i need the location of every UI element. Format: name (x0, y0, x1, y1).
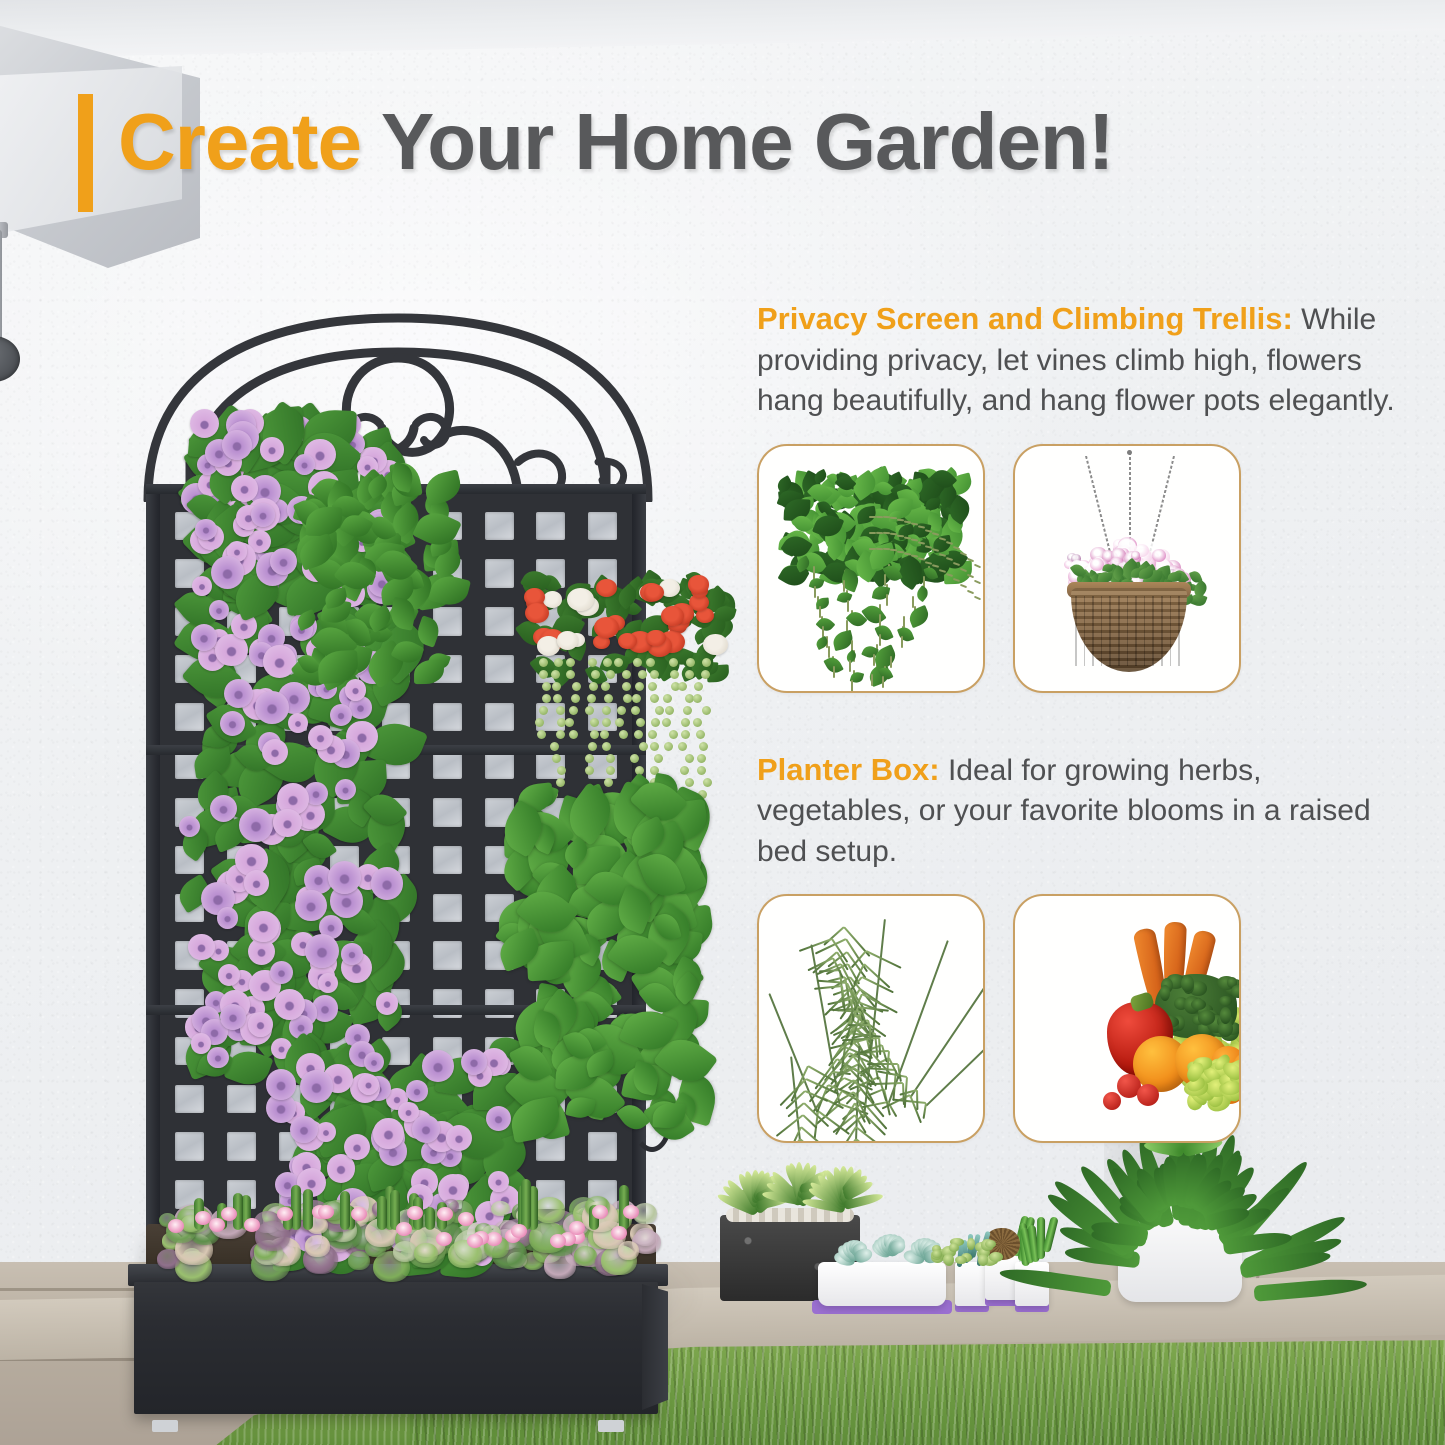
wicker-rib (1170, 596, 1172, 666)
morning-glory-bloom (222, 430, 252, 460)
ivy-vine (833, 666, 835, 678)
morning-glory-bloom (218, 964, 240, 986)
morning-glory-bloom (217, 907, 239, 929)
rosemary-needle (923, 1103, 927, 1119)
morning-glory-bloom (358, 1074, 379, 1095)
morning-glory-bloom (179, 816, 200, 837)
morning-glory-bloom (191, 1033, 212, 1054)
feature-1-heading: Privacy Screen and Climbing Trellis: (757, 301, 1293, 336)
succulent-bloom (277, 1207, 293, 1221)
trailing-pearl (588, 658, 597, 667)
succulent-rosette (618, 1241, 640, 1260)
card-trailing-ivy (757, 444, 985, 693)
morning-glory-bloom (290, 1116, 317, 1143)
trailing-pearl (681, 730, 690, 739)
morning-glory-bloom (195, 519, 217, 541)
trailing-pearl (585, 706, 594, 715)
morning-glory-bloom (446, 1125, 472, 1151)
morning-glory-bloom (263, 645, 296, 678)
succulent-rosette (491, 1201, 509, 1217)
ivy-vine (879, 634, 881, 646)
morning-glory-bloom (288, 713, 308, 733)
trailing-pearl (539, 706, 548, 715)
trailing-pearl (557, 766, 566, 775)
trailing-pearl (571, 694, 580, 703)
trailing-pearl (615, 718, 624, 727)
wicker-rib (1075, 596, 1077, 666)
ivy-leaf (816, 597, 830, 609)
trailing-pearl (539, 670, 548, 679)
trailing-pearl (572, 682, 581, 691)
morning-glory-bloom (486, 1106, 511, 1131)
trailing-pearl (650, 742, 659, 751)
morning-glory-bloom (422, 1050, 454, 1082)
succulent-rosette (305, 1235, 330, 1257)
headline-rest: Your Home Garden! (361, 97, 1114, 186)
ivy-vine (871, 674, 873, 686)
title-accent-bar (78, 94, 93, 212)
ivy-vine (886, 594, 888, 606)
mini-succulent (989, 1252, 1003, 1262)
trailing-pearl (566, 670, 575, 679)
basket-flower (1152, 549, 1166, 562)
succulent-bloom (437, 1207, 453, 1221)
ivy-arch-vine (869, 548, 876, 550)
trailing-pearl (664, 742, 673, 751)
mini-succulent (949, 1243, 959, 1252)
morning-glory-bloom (488, 1171, 508, 1191)
succulent-bloom (592, 1205, 608, 1219)
geranium-bloom (646, 630, 666, 647)
card-rosemary-herb (757, 894, 985, 1143)
feature-copy-column: Privacy Screen and Climbing Trellis: Whi… (757, 300, 1417, 1145)
ivy-leaf (837, 590, 853, 605)
morning-glory-bloom (211, 556, 244, 589)
trailing-pearl (651, 718, 660, 727)
lattice-opening (485, 703, 514, 732)
trailing-pearl (669, 658, 678, 667)
lettuce-frill (1239, 1058, 1241, 1083)
ivy-arch-vine (967, 589, 974, 594)
trailing-pearl (601, 682, 610, 691)
cactus-spike (340, 1191, 350, 1230)
rosemary-needle (878, 1071, 908, 1079)
morning-glory-bloom (191, 624, 217, 650)
morning-glory-bloom (412, 1115, 440, 1143)
trailing-pearl (556, 778, 565, 787)
succulent-bloom (221, 1207, 237, 1221)
lattice-opening (485, 655, 514, 684)
lattice-opening (485, 607, 514, 636)
trailing-pearl (685, 754, 694, 763)
ivy-arch-vine (974, 580, 981, 585)
headline-text: Create Your Home Garden! (118, 96, 1114, 188)
ivy-arch-vine (876, 548, 883, 550)
morning-glory-bloom (207, 1047, 228, 1068)
morning-glory-bloom (328, 861, 361, 894)
wicker-rib (1152, 596, 1154, 666)
trailing-pearl (556, 730, 565, 739)
rosemary-needle (869, 1025, 871, 1051)
trailing-pearl (665, 706, 674, 715)
trellis-planter-product (128, 312, 668, 1357)
trailing-pearl (622, 682, 631, 691)
ivy-vine (847, 600, 849, 612)
morning-glory-bloom (376, 992, 399, 1015)
planter-side-panel (642, 1284, 668, 1410)
feature-2-heading: Planter Box: (757, 752, 940, 787)
lattice-opening (433, 894, 462, 923)
trailing-pearl (602, 718, 611, 727)
wicker-rib (1118, 596, 1120, 666)
ivy-leaf (914, 584, 931, 602)
cherry-tomato (1103, 1092, 1121, 1110)
trailing-pearl (591, 670, 600, 679)
succulent-bloom (351, 1207, 367, 1221)
lattice-opening (485, 559, 514, 588)
morning-glory-bloom (406, 1080, 428, 1102)
headline-accent-word: Create (118, 97, 361, 186)
succulent-bloom (458, 1212, 474, 1226)
ivy-leaf (875, 622, 894, 643)
morning-glory-bloom (344, 1134, 370, 1160)
lattice-opening (175, 1085, 204, 1114)
ivy-arch-vine (974, 564, 981, 569)
trailing-pearl (614, 658, 623, 667)
morning-glory-bloom (266, 1069, 296, 1099)
lattice-opening (175, 703, 204, 732)
trailing-pearl (669, 730, 678, 739)
wicker-rib (1161, 596, 1163, 666)
trailing-pearl (542, 694, 551, 703)
ivy-arch-vine (876, 516, 883, 518)
feature-block-privacy-screen: Privacy Screen and Climbing Trellis: Whi… (757, 300, 1417, 693)
succulent-bloom (467, 1234, 483, 1248)
mini-succulent (943, 1254, 954, 1265)
geranium-bloom (567, 588, 594, 611)
trailing-pearl (697, 754, 706, 763)
morning-glory-bloom (295, 890, 326, 921)
geranium-bloom (596, 579, 617, 597)
morning-glory-bloom (373, 1118, 403, 1148)
ivy-leaf (906, 604, 931, 628)
trailing-ivy-plant-icon (759, 446, 983, 691)
trailing-pearl (650, 694, 659, 703)
planter-front-panel (134, 1282, 658, 1414)
lattice-left-rail (146, 484, 160, 1284)
clementine (1239, 1076, 1241, 1102)
trailing-pearl (648, 730, 657, 739)
rosemary-needle (916, 1090, 918, 1111)
trailing-pearl (655, 706, 664, 715)
trailing-pearl (699, 742, 708, 751)
card-hanging-basket (1013, 444, 1241, 693)
cactus-spike (425, 1207, 435, 1230)
trailing-pearl (630, 754, 639, 763)
trailing-pearl (680, 766, 689, 775)
morning-glory-bloom (273, 809, 302, 838)
broccoli-floret (1231, 985, 1241, 997)
wicker-rib (1127, 596, 1129, 666)
trailing-pearl (678, 682, 687, 691)
feature-1-cards (757, 444, 1417, 693)
wicker-rib (1178, 596, 1180, 666)
chain-hook (1127, 450, 1132, 455)
rosemary-stem (909, 973, 985, 1099)
succulent-bloom (407, 1206, 423, 1220)
trailing-pearl (535, 718, 544, 727)
trailing-pearl (685, 670, 694, 679)
planter-box (128, 1264, 668, 1424)
lattice-opening (588, 512, 617, 541)
morning-glory-bloom (461, 1049, 487, 1075)
lattice-opening (433, 941, 462, 970)
succulent-bloom (244, 1218, 260, 1232)
morning-glory-bloom (345, 679, 366, 700)
card-vegetables (1013, 894, 1241, 1143)
ivy-vine (882, 676, 884, 688)
broccoli-floret (1181, 975, 1194, 992)
ivy-arch-vine (960, 583, 967, 587)
morning-glory-bloom (251, 503, 275, 527)
trailing-pearl (552, 754, 561, 763)
planter-foot-left (152, 1420, 178, 1432)
succulent-bloom (623, 1205, 639, 1219)
rosemary-needle (779, 1139, 801, 1143)
wicker-rib (1092, 596, 1094, 666)
planter-foot-right (598, 1420, 624, 1432)
cactus-spike (521, 1179, 531, 1230)
cherry-tomato (1137, 1084, 1159, 1106)
morning-glory-bloom (188, 934, 215, 961)
trailing-pearl (565, 718, 574, 727)
page-title: Create Your Home Garden! (78, 86, 1418, 198)
wicker-rib (1135, 596, 1137, 666)
trailing-pearl (602, 706, 611, 715)
trailing-pearl (701, 670, 710, 679)
feature-2-paragraph: Planter Box: Ideal for growing herbs, ve… (757, 751, 1417, 873)
geranium-bloom (661, 606, 684, 626)
morning-glory-bloom (192, 576, 212, 596)
succulent-bloom (511, 1224, 527, 1238)
morning-glory-bloom (371, 867, 404, 900)
wicker-rib (1144, 596, 1146, 666)
morning-glory-bloom (239, 808, 273, 842)
ivy-arch-vine (869, 532, 876, 534)
trailing-pearl (554, 658, 563, 667)
ivy-vine (851, 680, 853, 692)
wicker-rib (1101, 596, 1103, 666)
trailing-pearl (635, 682, 644, 691)
lattice-opening (485, 512, 514, 541)
cactus-spike (377, 1196, 387, 1230)
geranium-bloom (644, 584, 664, 601)
hanging-flower-basket-icon (1015, 446, 1239, 691)
morning-glory-bloom (255, 691, 289, 725)
trailing-pearl (590, 718, 599, 727)
trailing-pearl (702, 658, 711, 667)
trailing-pearl (623, 694, 632, 703)
trailing-pearl (650, 670, 659, 679)
trailing-pearl (606, 670, 615, 679)
succulent-bloom (569, 1221, 585, 1235)
feature-2-cards (757, 894, 1417, 1143)
morning-glory-bloom (244, 870, 269, 895)
ivy-vine (828, 646, 830, 658)
trailing-pearl (617, 706, 626, 715)
trailing-pearl (648, 682, 657, 691)
wicker-rib (1084, 596, 1086, 666)
ivy-vine (901, 636, 903, 648)
lattice-opening (433, 798, 462, 827)
trailing-pearl (600, 730, 609, 739)
geranium-bloom (688, 575, 709, 593)
wicker-rib (1109, 596, 1111, 666)
trailing-pearl (703, 778, 712, 787)
lattice-opening (588, 1132, 617, 1161)
succulent-bloom (436, 1232, 452, 1246)
lattice-opening (433, 846, 462, 875)
ivy-arch-vine (974, 596, 981, 601)
succulent-rosette (574, 1246, 597, 1266)
succulent-bloom (550, 1234, 566, 1248)
trailing-pearl (589, 682, 598, 691)
lattice-opening (227, 1132, 256, 1161)
rosemary-herb-sprig-icon (759, 896, 983, 1141)
mini-succulent (967, 1238, 975, 1249)
succulent-rosette (534, 1197, 564, 1223)
lattice-opening (175, 1132, 204, 1161)
succulent-rosette (414, 1243, 437, 1263)
mini-succulent (955, 1256, 967, 1264)
morning-glory-bloom (248, 911, 279, 942)
oval-white-planter (818, 1262, 946, 1306)
ivy-vine (849, 660, 851, 672)
feature-1-paragraph: Privacy Screen and Climbing Trellis: Whi… (757, 300, 1417, 422)
rosemary-needle (799, 938, 833, 952)
downspout-pipe (0, 230, 2, 350)
trailing-pearl (654, 754, 663, 763)
feature-block-planter-box: Planter Box: Ideal for growing herbs, ve… (757, 751, 1417, 1144)
morning-glory-bloom (300, 1070, 333, 1103)
lattice-opening (433, 703, 462, 732)
geranium-bloom (618, 633, 637, 649)
ivy-leaf (861, 601, 886, 627)
trailing-pearl (587, 694, 596, 703)
trailing-pearl (619, 730, 628, 739)
mini-succulent (978, 1254, 988, 1265)
morning-glory-bloom (248, 1012, 272, 1036)
trailing-pearl (631, 706, 640, 715)
hex-white-pot (955, 1262, 989, 1306)
trailing-pearl (636, 718, 645, 727)
ivy-arch-vine (869, 516, 876, 518)
cactus-spike (303, 1189, 313, 1230)
trailing-pearl (639, 742, 648, 751)
ivy-leaf (844, 649, 859, 663)
lattice-opening (227, 1085, 256, 1114)
morning-glory-bloom (341, 943, 362, 964)
lattice-opening (536, 512, 565, 541)
assorted-vegetables-icon (1015, 896, 1239, 1141)
ivy-arch-vine (876, 532, 883, 534)
rosemary-needle (866, 950, 902, 969)
pencil-cactus-stem (1037, 1217, 1045, 1259)
geranium-bloom (557, 631, 579, 649)
geranium-bloom (525, 603, 549, 623)
trailing-pearl (553, 694, 562, 703)
